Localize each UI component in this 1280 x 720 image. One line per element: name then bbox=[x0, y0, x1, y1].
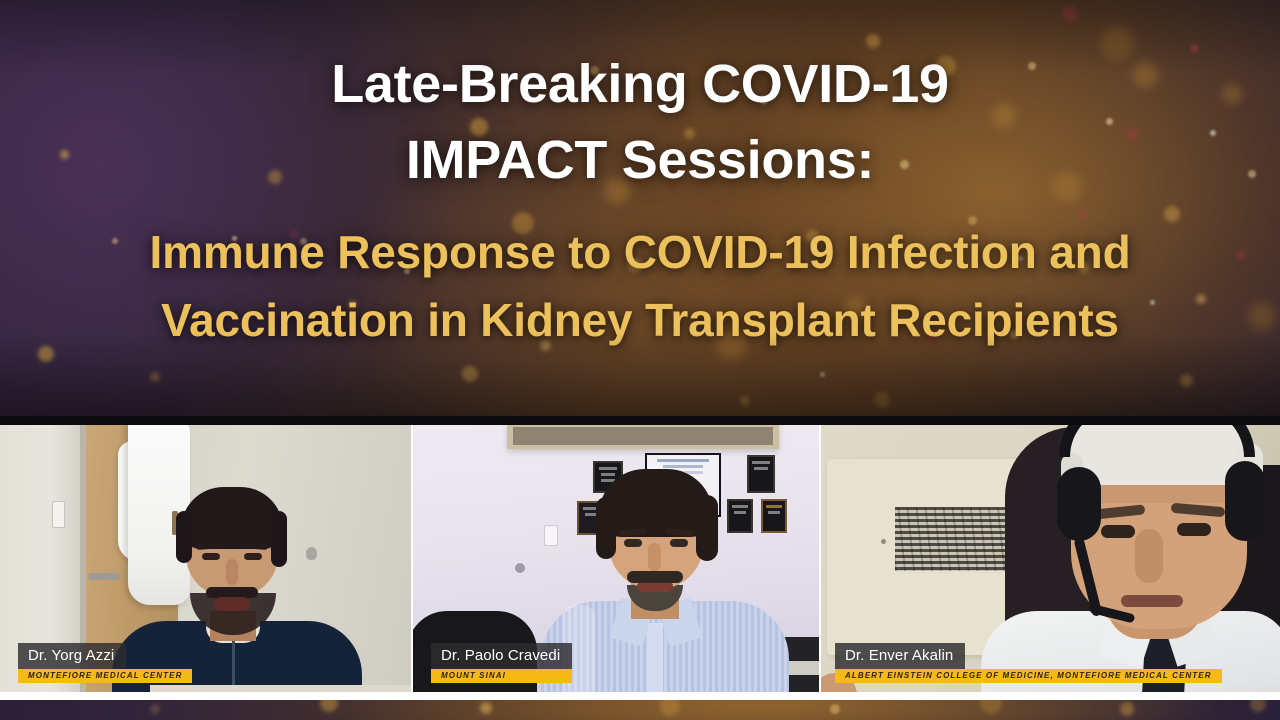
session-title-line-2: IMPACT Sessions: bbox=[406, 122, 874, 198]
banner-bottom-divider bbox=[0, 416, 1280, 425]
nameplate-paolo-cravedi: Dr. Paolo Cravedi MOUNT SINAI bbox=[431, 643, 572, 683]
tile3-headset-band-icon bbox=[1059, 425, 1255, 457]
tile3-wall-dot bbox=[881, 539, 886, 544]
footer-bokeh-particles bbox=[0, 700, 1280, 720]
tile2-person-placket bbox=[647, 623, 663, 692]
tile2-person-eye-right bbox=[670, 539, 688, 547]
tile3-person-eye-right bbox=[1177, 523, 1211, 536]
title-banner: Late-Breaking COVID-19 IMPACT Sessions: … bbox=[0, 0, 1280, 416]
bokeh-dot bbox=[660, 700, 680, 716]
footer-banner-strip bbox=[0, 700, 1280, 720]
nameplate-org-paolo-cravedi: MOUNT SINAI bbox=[431, 669, 572, 683]
tile3-headset-earcup-left-icon bbox=[1057, 467, 1101, 541]
tile1-person-hair-right bbox=[271, 511, 287, 567]
nameplate-org-enver-akalin: ALBERT EINSTEIN COLLEGE OF MEDICINE, MON… bbox=[835, 669, 1222, 683]
session-subtitle-line-1: Immune Response to COVID-19 Infection an… bbox=[150, 218, 1131, 286]
nameplate-enver-akalin: Dr. Enver Akalin ALBERT EINSTEIN COLLEGE… bbox=[835, 643, 1222, 683]
tile1-wall-knob bbox=[306, 547, 317, 560]
tile1-person-nose bbox=[226, 559, 238, 585]
nameplate-org-yorg-azzi: MONTEFIORE MEDICAL CENTER bbox=[18, 669, 192, 683]
tile2-shelf-inner bbox=[513, 427, 773, 445]
tile2-wall-dot bbox=[515, 563, 525, 573]
tile1-person-hair bbox=[181, 487, 283, 549]
tile1-person-eye-left bbox=[202, 553, 220, 560]
tile1-person-mouth bbox=[214, 597, 250, 611]
video-tile-yorg-azzi[interactable]: Dr. Yorg Azzi MONTEFIORE MEDICAL CENTER bbox=[0, 425, 411, 692]
tile2-person-moustache bbox=[627, 571, 683, 583]
grid-footer-gap bbox=[0, 692, 1280, 700]
tile1-door-handle bbox=[88, 573, 120, 580]
nameplate-name-paolo-cravedi: Dr. Paolo Cravedi bbox=[431, 643, 572, 669]
webinar-stage: Late-Breaking COVID-19 IMPACT Sessions: … bbox=[0, 0, 1280, 720]
title-text-block: Late-Breaking COVID-19 IMPACT Sessions: … bbox=[0, 0, 1280, 416]
tile2-person-nose bbox=[648, 543, 661, 571]
tile1-desk-edge bbox=[150, 685, 411, 692]
tile2-plaque-3 bbox=[747, 455, 775, 493]
tile2-plaque-5 bbox=[727, 499, 753, 533]
tile2-person-hair-left bbox=[596, 497, 616, 559]
tile3-person-nose bbox=[1135, 529, 1163, 583]
tile1-light-switch bbox=[52, 501, 65, 528]
nameplate-name-yorg-azzi: Dr. Yorg Azzi bbox=[18, 643, 126, 669]
tile3-vent-grille-overlay bbox=[895, 507, 1005, 571]
session-subtitle-line-2: Vaccination in Kidney Transplant Recipie… bbox=[161, 286, 1119, 354]
nameplate-name-enver-akalin: Dr. Enver Akalin bbox=[835, 643, 965, 669]
tile3-person-mouth bbox=[1121, 595, 1183, 607]
session-title-line-1: Late-Breaking COVID-19 bbox=[331, 46, 949, 122]
bokeh-dot bbox=[1250, 700, 1266, 712]
bokeh-dot bbox=[830, 704, 840, 714]
tile1-person-hair-left bbox=[176, 511, 192, 563]
tile2-plaque-6 bbox=[761, 499, 787, 533]
video-tile-enver-akalin[interactable]: Dr. Enver Akalin ALBERT EINSTEIN COLLEGE… bbox=[821, 425, 1280, 692]
nameplate-yorg-azzi: Dr. Yorg Azzi MONTEFIORE MEDICAL CENTER bbox=[18, 643, 192, 683]
video-tile-paolo-cravedi[interactable]: Dr. Paolo Cravedi MOUNT SINAI bbox=[413, 425, 819, 692]
bokeh-dot bbox=[1120, 702, 1134, 716]
tile2-person-hair-right bbox=[696, 495, 718, 561]
participant-video-grid: Dr. Yorg Azzi MONTEFIORE MEDICAL CENTER bbox=[0, 425, 1280, 692]
tile1-person-eye-right bbox=[244, 553, 262, 560]
bokeh-dot bbox=[150, 704, 160, 714]
tile3-person-eye-left bbox=[1101, 525, 1135, 538]
bokeh-dot bbox=[480, 702, 492, 714]
tile2-light-switch bbox=[544, 525, 558, 546]
tile3-headset-earcup-right-icon bbox=[1225, 461, 1265, 541]
bokeh-dot bbox=[980, 700, 1002, 714]
bokeh-dot bbox=[320, 700, 338, 712]
tile2-person-eye-left bbox=[624, 539, 642, 547]
